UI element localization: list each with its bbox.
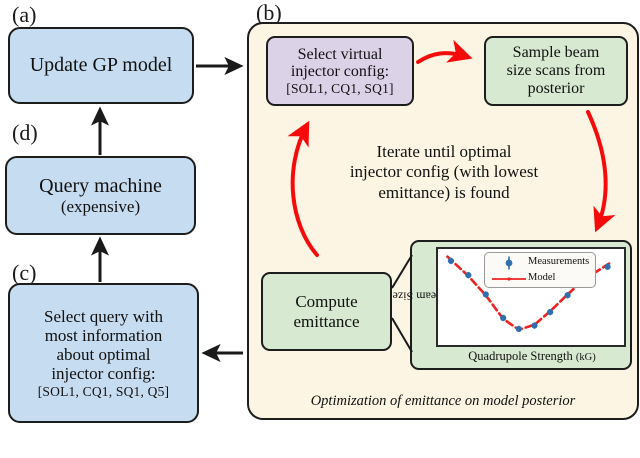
- panel-letter-a: (a): [12, 4, 36, 26]
- panel-letter-b: (b): [256, 2, 282, 24]
- figure-canvas: (a) (b) (c) (d) Optimization of emittanc…: [0, 0, 640, 458]
- select-virtual-config: [SOL1, CQ1, SQ1]: [274, 81, 406, 96]
- box-select-query[interactable]: Select query with most information about…: [8, 283, 199, 423]
- inset-x-axis-title: Quadrupole Strength: [468, 349, 573, 363]
- panel-b-caption: Optimization of emittance on model poste…: [249, 393, 637, 410]
- iterate-annotation: Iterate until optimal injector config (w…: [305, 142, 583, 203]
- iterate-line2: injector config (with lowest: [305, 162, 583, 182]
- select-query-line1: Select query with: [16, 307, 191, 326]
- inset-x-axis-label: Quadrupole Strength (kG): [434, 349, 630, 364]
- legend-label-model: Model: [528, 272, 555, 283]
- box-sample-beam-size-scans[interactable]: Sample beam size scans from posterior: [484, 36, 628, 106]
- legend-label-measurements: Measurements: [528, 256, 589, 267]
- inset-plot-container: Beam Size (μm) Measurements: [410, 240, 632, 370]
- box-update-gp-model[interactable]: Update GP model: [8, 27, 194, 104]
- select-query-line2: most information: [16, 326, 191, 345]
- box-query-machine[interactable]: Query machine (expensive): [5, 156, 196, 235]
- select-virtual-line2: injector config:: [274, 63, 406, 81]
- panel-letter-c: (c): [12, 262, 36, 284]
- chart-legend: Measurements Model: [484, 252, 596, 288]
- select-query-line4: injector config:: [16, 364, 191, 383]
- errorbar-circle-icon: [502, 256, 516, 270]
- select-virtual-line1: Select virtual: [274, 46, 406, 64]
- iterate-line3: emittance) is found: [305, 183, 583, 203]
- select-query-line3: about optimal: [16, 345, 191, 364]
- box-compute-emittance[interactable]: Compute emittance: [261, 272, 392, 351]
- legend-row-model: Model: [488, 271, 594, 287]
- query-machine-label-line1: Query machine: [13, 175, 188, 197]
- sample-beam-line3: posterior: [492, 80, 620, 98]
- query-machine-label-line2: (expensive): [13, 197, 188, 216]
- compute-emittance-line1: Compute: [269, 292, 384, 311]
- update-gp-label: Update GP model: [16, 54, 186, 76]
- sample-beam-line2: size scans from: [492, 62, 620, 80]
- line-dashed-icon: [492, 277, 526, 281]
- box-select-virtual-injector-config[interactable]: Select virtual injector config: [SOL1, C…: [266, 36, 414, 106]
- compute-emittance-line2: emittance: [269, 312, 384, 331]
- iterate-line1: Iterate until optimal: [305, 142, 583, 162]
- legend-row-measurements: Measurements: [488, 255, 594, 271]
- sample-beam-line1: Sample beam: [492, 44, 620, 62]
- inset-plot-area: Measurements Model: [436, 247, 626, 347]
- inset-y-axis-label: Beam Size (μm): [415, 248, 433, 344]
- select-query-config: [SOL1, CQ1, SQ1, Q5]: [16, 384, 191, 399]
- inset-x-axis-unit: (kG): [576, 352, 596, 363]
- panel-letter-d: (d): [12, 122, 38, 144]
